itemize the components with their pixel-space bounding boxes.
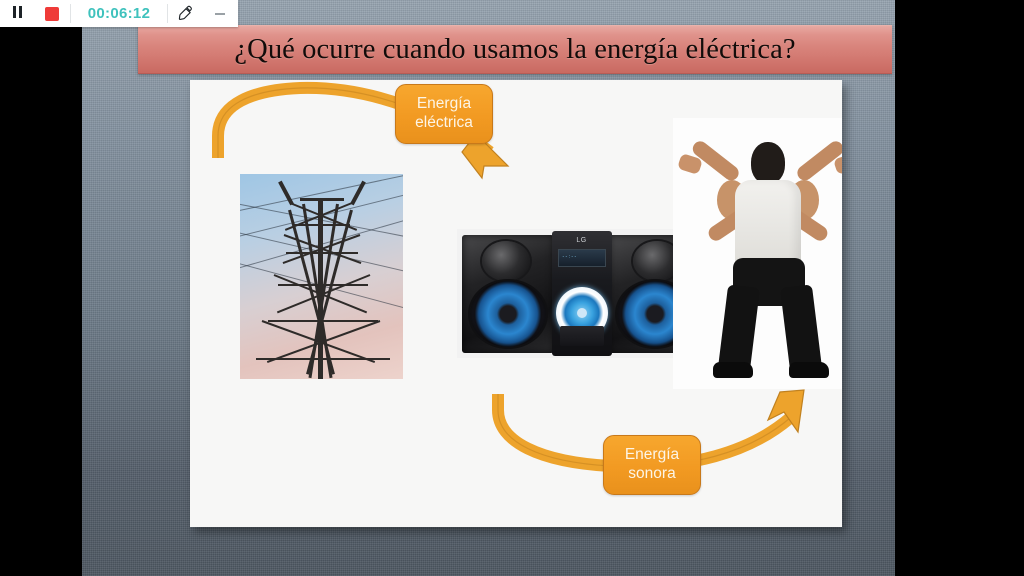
leg-left <box>718 284 760 371</box>
pause-icon <box>11 5 23 23</box>
slide-content-card: LG - - : - - <box>190 80 842 527</box>
pen-annotate-button[interactable] <box>168 0 204 27</box>
label-line-1: Energía <box>417 95 471 114</box>
minimize-button[interactable] <box>204 0 236 27</box>
leg-right <box>780 284 822 371</box>
shoe-right <box>789 362 829 378</box>
presentation-slide: ¿Qué ocurre cuando usamos la energía elé… <box>82 0 895 576</box>
slide-title-banner: ¿Qué ocurre cuando usamos la energía elé… <box>138 25 892 74</box>
stop-record-button[interactable] <box>34 0 70 27</box>
screen-recorder-toolbar: 00:06:12 <box>0 0 238 27</box>
pause-button[interactable] <box>0 0 34 27</box>
stereo-button-row <box>560 326 604 346</box>
woofer-icon <box>470 281 546 347</box>
letterbox-left <box>0 0 82 576</box>
stereo-display: - - : - - <box>558 249 606 267</box>
stereo-system-photo: LG - - : - - <box>457 229 706 358</box>
tank-top <box>735 180 801 270</box>
screen-capture: ¿Qué ocurre cuando usamos la energía elé… <box>0 0 1024 576</box>
recording-timer: 00:06:12 <box>71 0 167 27</box>
label-line-2: sonora <box>628 465 675 484</box>
label-energia-sonora[interactable]: Energía sonora <box>603 435 701 495</box>
shoe-left <box>713 362 753 378</box>
head <box>751 142 785 184</box>
stop-record-icon <box>45 7 59 21</box>
page-title: ¿Qué ocurre cuando usamos la energía elé… <box>234 34 795 66</box>
label-line-1: Energía <box>625 446 679 465</box>
letterbox-right <box>895 0 1024 576</box>
stereo-center-unit: LG - - : - - <box>552 231 612 356</box>
label-line-2: eléctrica <box>415 114 473 133</box>
stereo-brand-mark: LG <box>576 237 586 244</box>
label-energia-electrica[interactable]: Energía eléctrica <box>395 84 493 144</box>
left-speaker <box>462 235 554 353</box>
pen-annotate-icon <box>178 5 195 22</box>
tweeter-icon <box>482 241 530 281</box>
dancing-man-photo <box>673 118 842 389</box>
minimize-icon <box>215 13 225 15</box>
transmission-tower-photo <box>240 174 403 379</box>
